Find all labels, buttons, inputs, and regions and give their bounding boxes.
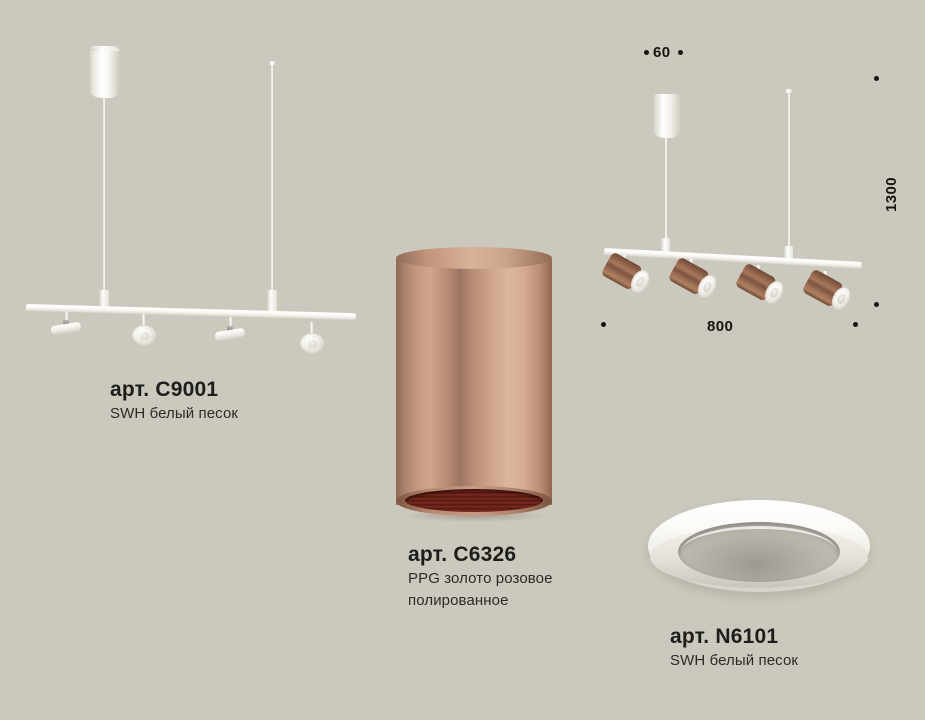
ring-inner-highlight [682,526,836,576]
assembly-rod-right [788,92,790,250]
finish-name-n6101: SWH белый песок [670,650,798,672]
dim-dot-top-right [678,50,683,55]
dimension-side-1300: 1300 [883,177,900,212]
product-image-c6326 [396,247,552,522]
track-bar-white [26,304,356,320]
assembly-rod-left [665,138,667,242]
product-sheet-canvas: арт. C9001 SWH белый песок арт. C6326 PP… [0,0,925,720]
dim-dot-bottom-right [853,322,858,327]
dimension-top-60: 60 [653,44,671,61]
bar-connector-right [267,290,277,312]
suspension-cable-right [271,63,273,294]
assembly-spot-3 [735,262,788,307]
canopy-cylinder-icon [90,46,120,98]
cylinder-top-cap [396,247,552,269]
finish-name-c6326-line2: полированное [408,590,553,612]
dim-dot-top-left [644,50,649,55]
article-code-c6326: арт. C6326 [408,542,553,568]
finish-name-c9001: SWH белый песок [110,403,238,425]
assembly-joint-left [661,238,670,252]
dim-dot-bottom-left [601,322,606,327]
assembly-spot-2 [668,256,721,301]
cylinder-body-rose-gold [396,255,552,505]
finish-name-c6326-line1: PPG золото розовое [408,568,553,590]
spot-head-1 [50,322,81,336]
dim-dot-right-bottom [874,302,879,307]
dim-dot-right-top [874,76,879,81]
product-image-c9001 [0,0,380,370]
spot-head-3 [214,328,245,342]
label-n6101: арт. N6101 SWH белый песок [670,624,798,672]
article-code-c9001: арт. C9001 [110,377,238,403]
spot-head-4 [300,333,324,353]
cylinder-inner-reflector [405,489,543,512]
suspension-cable-left [103,98,105,294]
spot-head-2 [132,325,156,345]
assembly-rod-right-tip [785,89,792,93]
assembly-track-bar [604,248,862,269]
product-image-assembly [588,40,888,340]
label-c6326: арт. C6326 PPG золото розовое полированн… [408,542,553,612]
dimension-bottom-800: 800 [707,318,733,335]
product-image-n6101 [648,500,870,610]
assembly-spot-1 [601,251,654,296]
article-code-n6101: арт. N6101 [670,624,798,650]
assembly-spot-4 [802,268,855,313]
label-c9001: арт. C9001 SWH белый песок [110,377,238,425]
suspension-cable-right-tip [269,61,275,65]
assembly-canopy-icon [654,94,680,138]
